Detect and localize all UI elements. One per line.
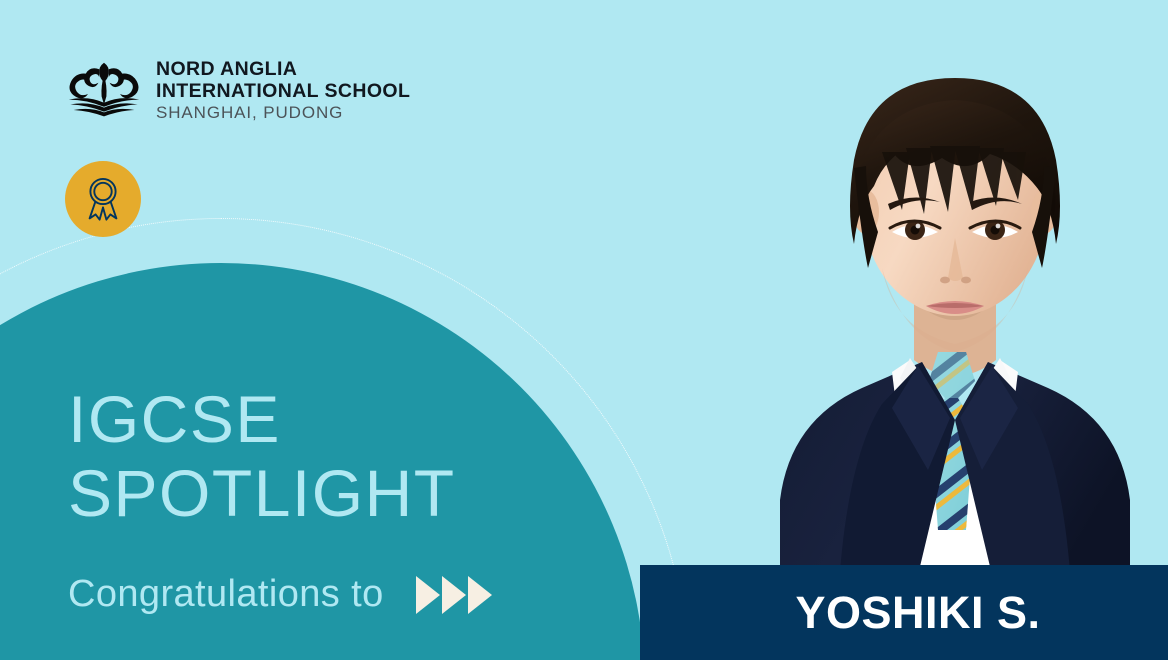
- play-triangle-icon: [416, 576, 440, 614]
- headline-block: IGCSE SPOTLIGHT: [68, 383, 628, 531]
- headline-line-igcse: IGCSE: [68, 383, 628, 457]
- igcse-spotlight-poster: YOSHIKI S.: [0, 0, 1168, 660]
- school-name-line-1: NORD ANGLIA: [156, 58, 410, 80]
- student-name-banner: YOSHIKI S.: [640, 565, 1168, 660]
- school-logo: NORD ANGLIA INTERNATIONAL SCHOOL SHANGHA…: [64, 58, 410, 122]
- school-logo-text: NORD ANGLIA INTERNATIONAL SCHOOL SHANGHA…: [156, 58, 410, 122]
- student-name: YOSHIKI S.: [795, 587, 1040, 639]
- headline-line-spotlight: SPOTLIGHT: [68, 457, 628, 531]
- school-campus-line: SHANGHAI, PUDONG: [156, 103, 410, 122]
- student-portrait-photo: [742, 0, 1168, 600]
- nord-anglia-crown-book-emblem-icon: [64, 61, 144, 119]
- congratulations-row: Congratulations to: [68, 573, 492, 616]
- play-triangle-icon: [442, 576, 466, 614]
- award-ribbon-icon: [81, 176, 125, 222]
- congratulations-text: Congratulations to: [68, 573, 384, 616]
- arrow-group: [416, 576, 492, 614]
- award-badge: [65, 161, 141, 237]
- school-name-line-2: INTERNATIONAL SCHOOL: [156, 80, 410, 102]
- play-triangle-icon: [468, 576, 492, 614]
